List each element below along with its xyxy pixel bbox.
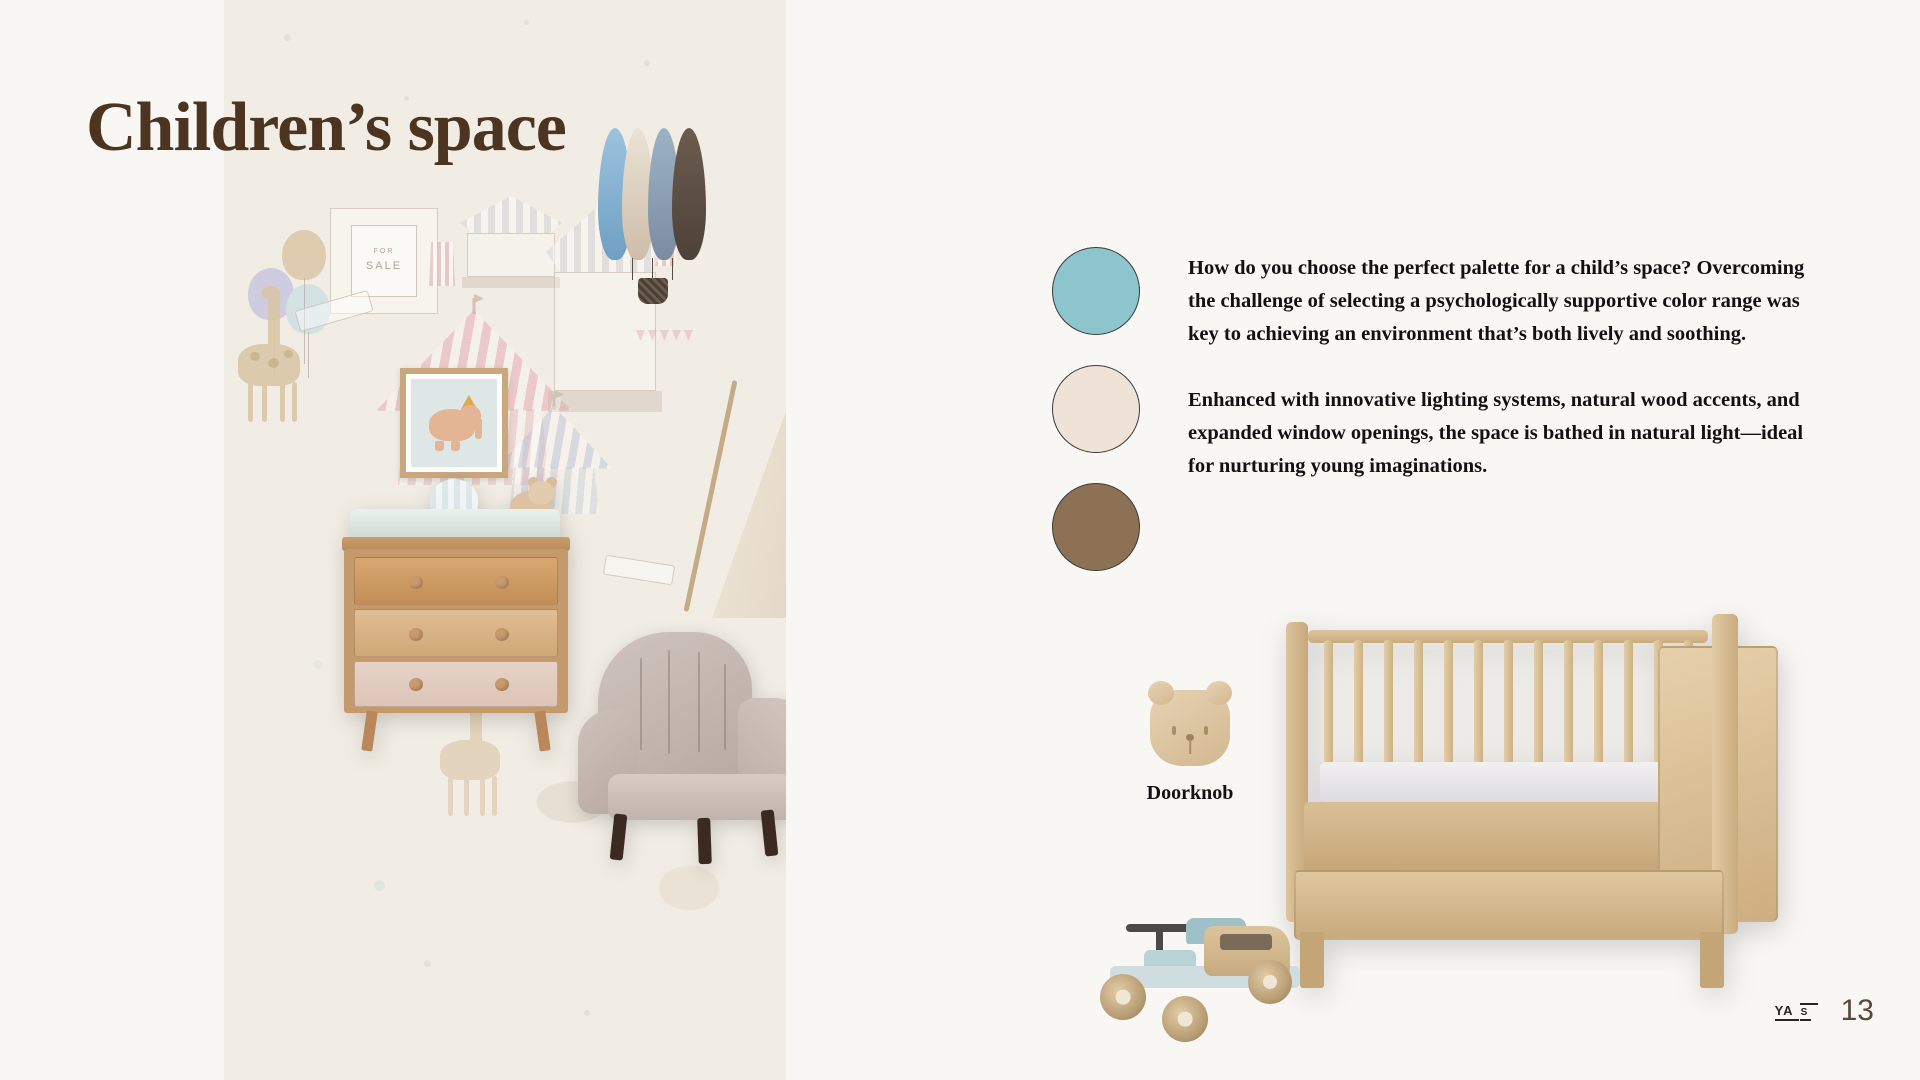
wallpaper-bunting xyxy=(636,330,714,340)
page-title: Children’s space xyxy=(86,88,566,168)
paragraph-lighting: Enhanced with innovative lighting system… xyxy=(1188,384,1828,483)
hot-air-balloon xyxy=(598,128,708,308)
logo-secondary-text: S xyxy=(1801,1007,1808,1018)
swatch-walnut-brown[interactable] xyxy=(1052,483,1140,571)
framed-elephant-art xyxy=(400,368,508,478)
canvas-teepee xyxy=(694,386,786,618)
page-number: 13 xyxy=(1841,994,1874,1028)
wooden-crib xyxy=(1280,620,1800,1040)
wallpaper-giraffe xyxy=(232,286,310,426)
upholstered-armchair xyxy=(572,632,786,864)
doorknob-product: Doorknob xyxy=(1120,690,1260,805)
slide-canvas: FOR SALE xyxy=(0,0,1920,1080)
doorknob-label: Doorknob xyxy=(1120,782,1260,805)
paragraph-palette: How do you choose the perfect palette fo… xyxy=(1188,252,1828,351)
color-palette-swatches xyxy=(1052,247,1152,601)
bear-doorknob-icon xyxy=(1150,690,1230,766)
stall-small-text: FOR xyxy=(374,247,395,258)
ride-on-toy-car xyxy=(1100,890,1330,1050)
wallpaper-popcorn-box xyxy=(429,242,455,286)
swatch-soft-teal[interactable] xyxy=(1052,247,1140,335)
stall-sale-text: SALE xyxy=(366,258,402,275)
swatch-warm-cream[interactable] xyxy=(1052,365,1140,453)
wallpaper-ticket xyxy=(603,555,675,586)
three-drawer-dresser xyxy=(342,537,570,753)
description-copy: How do you choose the perfect palette fo… xyxy=(1188,252,1828,483)
